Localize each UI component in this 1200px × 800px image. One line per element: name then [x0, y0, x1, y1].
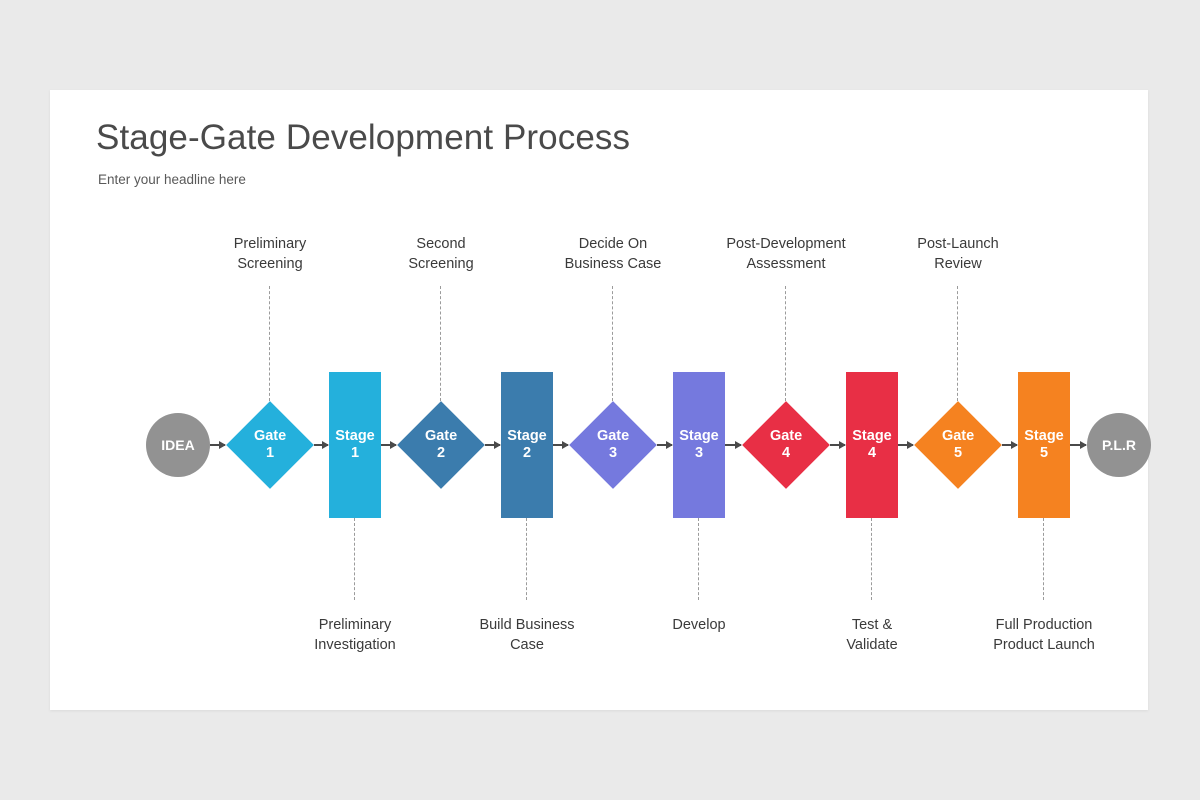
stage-gate-diagram: Preliminary ScreeningSecond ScreeningDec… — [50, 90, 1148, 710]
gate-caption-gate-1: Preliminary Screening — [170, 234, 370, 274]
node-label: Gate 3 — [597, 428, 629, 462]
leader-line-gate-1 — [269, 286, 270, 401]
node-label: Gate 4 — [770, 428, 802, 462]
leader-line-stage-2 — [526, 518, 527, 600]
leader-line-gate-4 — [785, 286, 786, 401]
node-label: Stage 3 — [679, 428, 719, 462]
gate-caption-gate-4: Post-Development Assessment — [686, 234, 886, 274]
leader-line-stage-4 — [871, 518, 872, 600]
leader-line-stage-1 — [354, 518, 355, 600]
node-label: Stage 4 — [852, 428, 892, 462]
node-idea[interactable]: IDEA — [146, 413, 210, 477]
node-gate-4[interactable]: Gate 4 — [742, 401, 830, 489]
stage-caption-stage-3: Develop — [599, 615, 799, 635]
node-stage-2[interactable]: Stage 2 — [501, 372, 553, 518]
arrow-connector — [1070, 444, 1086, 446]
stage-caption-stage-2: Build Business Case — [427, 615, 627, 655]
node-label: Stage 1 — [335, 428, 375, 462]
node-stage-1[interactable]: Stage 1 — [329, 372, 381, 518]
stage-caption-stage-4: Test & Validate — [772, 615, 972, 655]
gate-caption-gate-2: Second Screening — [341, 234, 541, 274]
node-label: Stage 5 — [1024, 428, 1064, 462]
node-plr[interactable]: P.L.R — [1087, 413, 1151, 477]
node-gate-5[interactable]: Gate 5 — [914, 401, 1002, 489]
node-label: IDEA — [161, 437, 194, 454]
arrow-connector — [657, 444, 672, 446]
node-stage-4[interactable]: Stage 4 — [846, 372, 898, 518]
leader-line-gate-2 — [440, 286, 441, 401]
node-gate-3[interactable]: Gate 3 — [569, 401, 657, 489]
arrow-connector — [898, 444, 913, 446]
node-label: Gate 5 — [942, 428, 974, 462]
arrow-connector — [210, 444, 225, 446]
node-stage-5[interactable]: Stage 5 — [1018, 372, 1070, 518]
arrow-connector — [553, 444, 568, 446]
node-label: P.L.R — [1102, 437, 1136, 454]
arrow-connector — [381, 444, 396, 446]
stage-caption-stage-5: Full Production Product Launch — [944, 615, 1144, 655]
leader-line-stage-5 — [1043, 518, 1044, 600]
arrow-connector — [725, 444, 741, 446]
arrow-connector — [314, 444, 328, 446]
node-label: Stage 2 — [507, 428, 547, 462]
leader-line-stage-3 — [698, 518, 699, 600]
arrow-connector — [830, 444, 845, 446]
leader-line-gate-3 — [612, 286, 613, 401]
arrow-connector — [485, 444, 500, 446]
gate-caption-gate-3: Decide On Business Case — [513, 234, 713, 274]
slide-card: Stage-Gate Development Process Enter you… — [50, 90, 1148, 710]
node-label: Gate 1 — [254, 428, 286, 462]
node-gate-2[interactable]: Gate 2 — [397, 401, 485, 489]
node-label: Gate 2 — [425, 428, 457, 462]
gate-caption-gate-5: Post-Launch Review — [858, 234, 1058, 274]
node-gate-1[interactable]: Gate 1 — [226, 401, 314, 489]
arrow-connector — [1002, 444, 1017, 446]
node-stage-3[interactable]: Stage 3 — [673, 372, 725, 518]
leader-line-gate-5 — [957, 286, 958, 401]
stage-caption-stage-1: Preliminary Investigation — [255, 615, 455, 655]
